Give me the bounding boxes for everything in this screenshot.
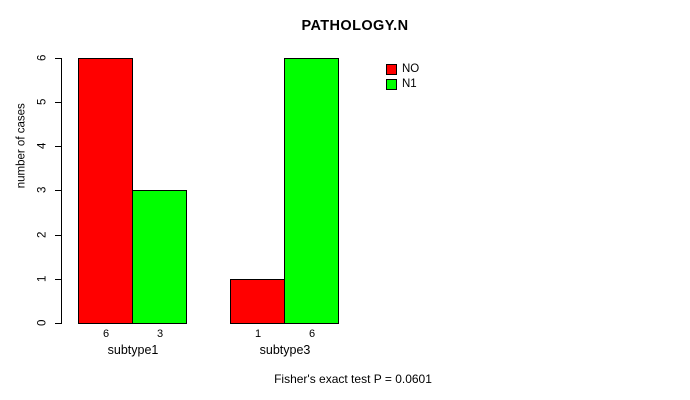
- y-tick-label-6: 6: [34, 51, 52, 65]
- y-axis-line: [61, 58, 62, 324]
- bar-value-subtype1-N1: 3: [142, 329, 178, 340]
- legend-label-NO: NO: [402, 64, 419, 75]
- bar-subtype3-NO: [230, 279, 285, 324]
- y-tick-1: [55, 279, 61, 280]
- group-label-subtype3: subtype3: [225, 344, 345, 357]
- bar-value-subtype3-N1: 6: [294, 329, 330, 340]
- y-axis-title: number of cases: [16, 76, 28, 216]
- y-tick-label-4: 4: [34, 139, 52, 153]
- statistical-annotation: Fisher's exact test P = 0.0601: [8, 372, 690, 386]
- plot-area: 0 1 2 3 4 5 6 number of cases 6 3 subtyp…: [0, 0, 690, 400]
- y-tick-label-5: 5: [34, 95, 52, 109]
- y-tick-label-0: 0: [34, 316, 52, 330]
- y-tick-6: [55, 58, 61, 59]
- y-tick-4: [55, 146, 61, 147]
- y-tick-3: [55, 190, 61, 191]
- y-tick-0: [55, 323, 61, 324]
- legend-swatch-N1-icon: [386, 79, 397, 90]
- bar-subtype1-NO: [78, 58, 133, 324]
- legend-label-N1: N1: [402, 79, 417, 90]
- y-tick-label-1: 1: [34, 272, 52, 286]
- y-tick-2: [55, 235, 61, 236]
- legend-swatch-NO-icon: [386, 64, 397, 75]
- bar-value-subtype3-NO: 1: [240, 329, 276, 340]
- y-tick-label-2: 2: [34, 228, 52, 242]
- y-tick-label-3: 3: [34, 183, 52, 197]
- bar-subtype3-N1: [284, 58, 339, 324]
- bar-value-subtype1-NO: 6: [88, 329, 124, 340]
- barplot-figure: PATHOLOGY.N 0 1 2 3 4 5 6: [0, 0, 690, 400]
- bar-subtype1-N1: [132, 190, 187, 324]
- y-tick-5: [55, 102, 61, 103]
- group-label-subtype1: subtype1: [73, 344, 193, 357]
